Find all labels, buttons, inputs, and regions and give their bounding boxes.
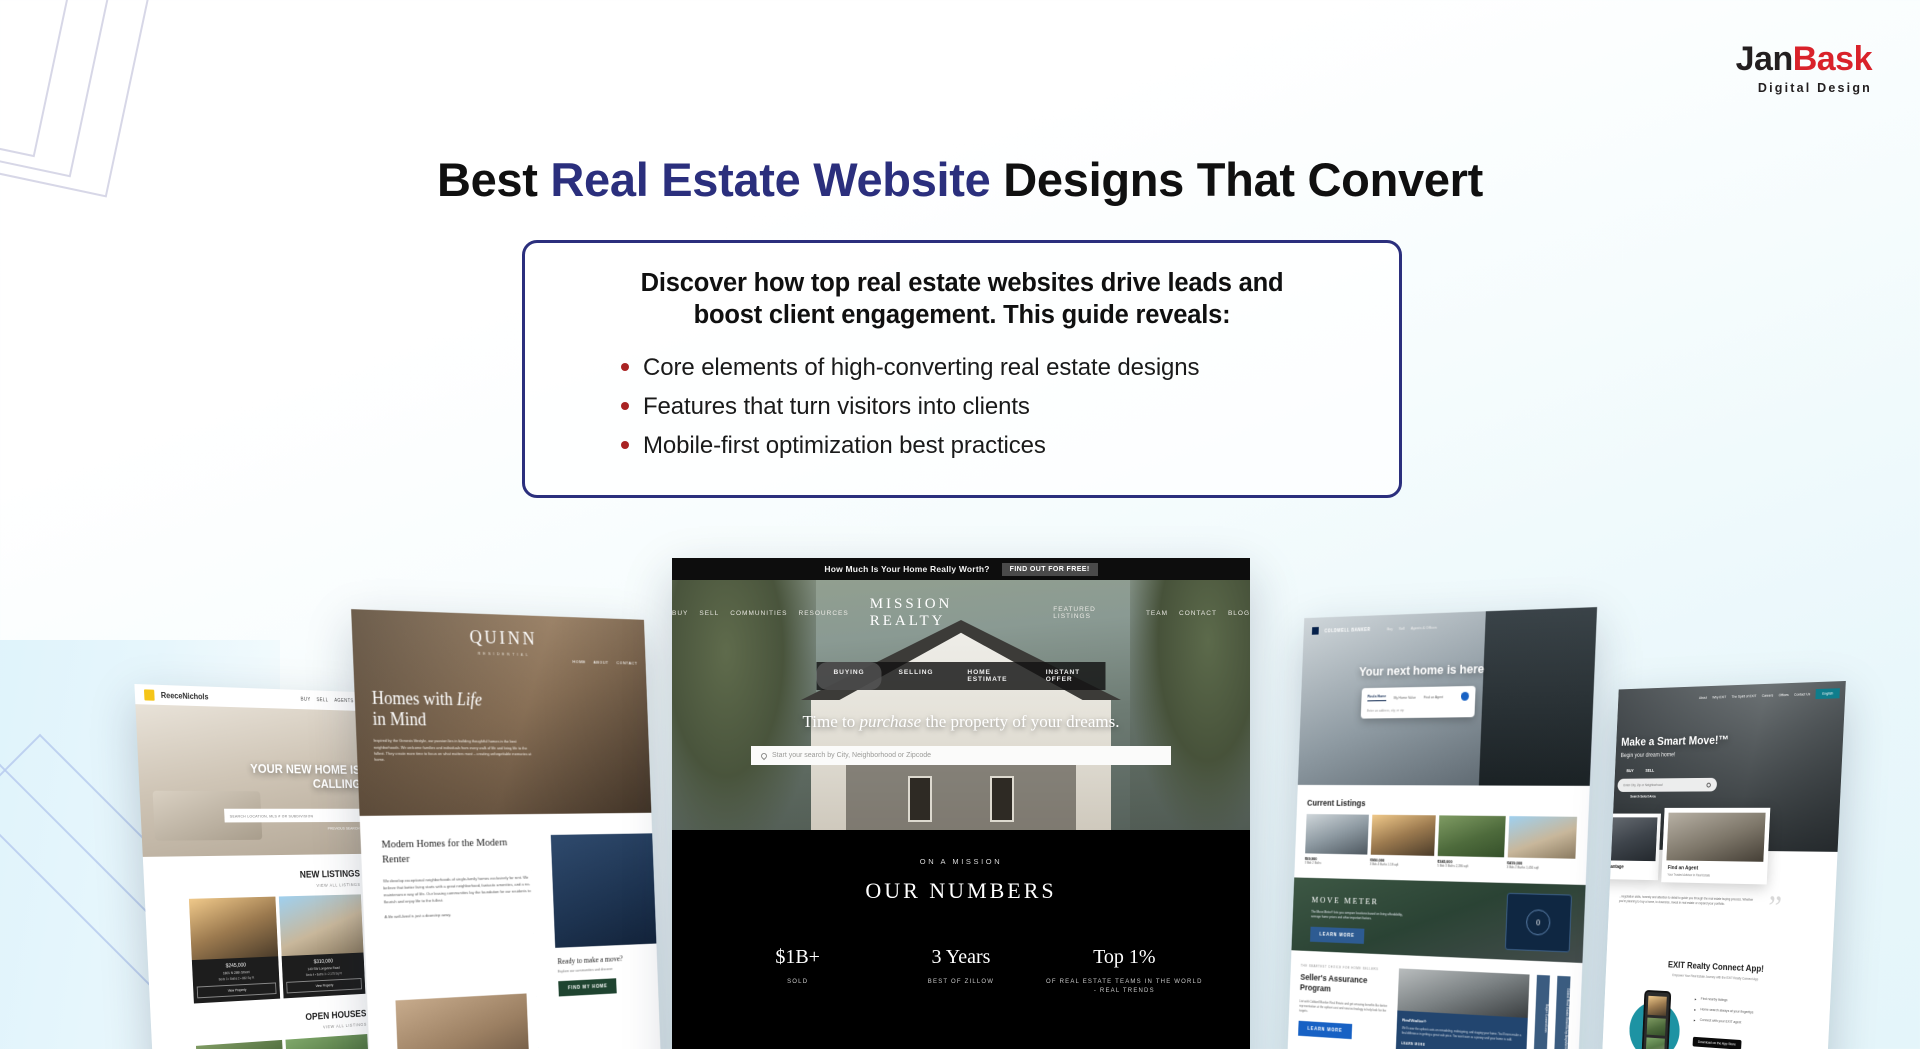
reece-brand: ReeceNichols — [161, 690, 209, 701]
list-item: Core elements of high-converting real es… — [621, 354, 1365, 382]
chat-icon: ▸ — [1694, 1018, 1696, 1023]
list-item[interactable]: $419,000 3 Bds 2 Baths 1,456 sqft — [1507, 816, 1577, 871]
quinn-nav-home[interactable]: HOME — [572, 659, 585, 664]
coldwell-side-tab-global-benefits[interactable]: Global Real Estate Benefits by Anywhere — [1554, 976, 1571, 1049]
mission-navbar: BUY SELL COMMUNITIES RESOURCES MISSION R… — [672, 596, 1250, 630]
exit-card2-sub: Your Trusted Advisor in Real Estate — [1661, 873, 1767, 879]
callout-box: Discover how top real estate websites dr… — [522, 240, 1402, 498]
list-item[interactable] — [286, 1034, 370, 1049]
reece-nav-buy[interactable]: BUY — [301, 697, 311, 703]
bullet-dot-icon — [621, 363, 629, 371]
quinn-hero-em: Life — [456, 689, 482, 709]
coldwell-listings-title: Current Listings — [1307, 798, 1578, 810]
coldwell-brand: COLDWELL BANKER — [1324, 627, 1370, 633]
exit-search-input[interactable]: Enter City, Zip or Neighborhood — [1617, 778, 1717, 792]
headline-accent: Real Estate Website — [550, 153, 990, 206]
coldwell-seller-kicker: THE SMARTEST CHOICE FOR HOME SELLERS — [1301, 964, 1392, 972]
exit-search-heading: Search Select Area — [1630, 795, 1656, 799]
reece-hero: YOUR NEW HOME IS CALLING SEARCH LOCATION… — [135, 704, 368, 857]
reece-nav-sell[interactable]: SELL — [316, 697, 328, 703]
mission-hero-post: the property of your dreams. — [921, 712, 1119, 731]
coldwell-logo-icon — [1312, 627, 1319, 635]
mockup-coldwell-banker[interactable]: COLDWELL BANKER Buy Sell Agents & Office… — [1278, 607, 1597, 1049]
coldwell-seller-learn-more-button[interactable]: LEARN MORE — [1298, 1021, 1352, 1039]
search-icon[interactable] — [1706, 782, 1711, 787]
quinn-cta-title: Ready to make a move? — [557, 953, 650, 966]
reece-hero-line-1: YOUR NEW HOME IS — [250, 761, 360, 777]
reece-listing-cta-1[interactable]: View Property — [197, 982, 277, 998]
exit-phone-mockup — [1641, 990, 1671, 1049]
coldwell-search-panel[interactable]: Find a Home My Home Value Find an Agent … — [1361, 686, 1476, 719]
reece-hero-line-2: CALLING — [313, 776, 362, 791]
mission-announcement-bar: How Much Is Your Home Really Worth? FIND… — [672, 558, 1250, 580]
reece-listing-cards: $245,000 1801 N 28th Street Beds 3 • Bat… — [145, 887, 376, 1006]
mission-search-input[interactable]: Start your search by City, Neighborhood … — [751, 746, 1171, 765]
list-item[interactable]: $950,000 3 Bds 4 Baths 1.18 sqft — [1370, 815, 1436, 868]
coldwell-nav-buy[interactable]: Buy — [1387, 626, 1393, 631]
quinn-section-title-1: Modern Homes for the Modern — [381, 837, 507, 851]
mockup-quinn[interactable]: QUINN RESIDENTIAL HOME ABOUT CONTACT Hom… — [351, 609, 670, 1049]
quinn-find-my-home-button[interactable]: FIND MY HOME — [558, 978, 617, 996]
bullet-text: Core elements of high-converting real es… — [643, 354, 1199, 382]
quinn-hero-text: Homes with Life in Mind Inspired by the … — [371, 688, 537, 763]
stat-item: Top 1% OF REAL ESTATE TEAMS IN THE WORLD… — [1046, 946, 1203, 996]
exit-tab-sell[interactable]: SELL — [1645, 768, 1654, 773]
coldwell-tab-find-an-agent[interactable]: Find an Agent — [1424, 695, 1444, 699]
coldwell-search-placeholder: Enter an address, city, or zip — [1367, 707, 1469, 712]
coldwell-realvitalize-card: RealVitalize® We'll cover the upfront co… — [1396, 1010, 1528, 1049]
reece-search-input[interactable]: SEARCH LOCATION, MLS # OR SUBDIVISION — [224, 809, 361, 823]
list-item: Features that turn visitors into clients — [621, 393, 1365, 421]
coldwell-side-tab-buyer-connections[interactable]: Buyer Connections — [1533, 975, 1549, 1049]
coldwell-realvitalize-body: We'll cover the upfront costs on remodel… — [1402, 1026, 1522, 1043]
app-store-badge[interactable]: Download on the App Store — [1693, 1037, 1742, 1049]
mission-hero-window-1 — [908, 776, 932, 822]
headline-part-1: Best — [437, 153, 550, 206]
coldwell-seller-title-2: Program — [1300, 983, 1331, 994]
exit-testimonial-block: ...negotiation skills, honesty and atten… — [1618, 894, 1782, 918]
quinn-brand: QUINN — [469, 627, 537, 650]
list-item[interactable]: $69,900 3 Bds 2 Baths — [1305, 814, 1369, 866]
mockup-reecenichols[interactable]: ReeceNichols BUY SELL AGENTS YOUR NEW HO… — [134, 684, 388, 1049]
mission-hero: BUY SELL COMMUNITIES RESOURCES MISSION R… — [672, 580, 1250, 830]
exit-card2-title: Find an Agent — [1662, 865, 1768, 873]
mockup-mission-realty[interactable]: How Much Is Your Home Really Worth? FIND… — [672, 558, 1250, 1049]
coldwell-realvitalize-image — [1397, 968, 1529, 1018]
mission-search-placeholder: Start your search by City, Neighborhood … — [772, 752, 931, 759]
mockup-exit-realty[interactable]: About Why EXIT The Spirit of EXIT Career… — [1591, 681, 1846, 1049]
coldwell-hero-title: Your next home is here — [1359, 662, 1485, 679]
coldwell-movemeter-body: The Move Meter® lets you compare locatio… — [1311, 910, 1414, 924]
reece-nav-agents[interactable]: AGENTS — [334, 698, 354, 704]
pin-icon: ▸ — [1695, 996, 1697, 1001]
coldwell-search-submit-icon[interactable] — [1461, 692, 1469, 701]
coldwell-movemeter-button[interactable]: LEARN MORE — [1310, 926, 1364, 943]
stat-item: 3 Years BEST OF ZILLOW — [883, 946, 1040, 996]
reece-new-listings-section: NEW LISTINGS VIEW ALL LISTINGS — [143, 854, 370, 892]
exit-hero-subheading: Begin your dream home! — [1620, 752, 1675, 759]
decorative-rectangle-3 — [0, 0, 101, 157]
mission-nav-featured-listings[interactable]: FEATURED LISTINGS — [1053, 606, 1135, 620]
exit-feature-1: Find nearby listings — [1701, 997, 1728, 1002]
bullet-dot-icon — [621, 441, 629, 449]
stat-item: $1B+ SOLD — [719, 946, 876, 996]
reece-prev-search-link[interactable]: PREVIOUS SEARCH — [328, 826, 360, 831]
list-item[interactable] — [196, 1040, 285, 1049]
exit-app-feature-list: ▸ Find nearby listings ▸ Home search alw… — [1692, 996, 1787, 1049]
exit-testimonial-text: ...negotiation skills, honesty and atten… — [1618, 894, 1761, 918]
exit-search-placeholder: Enter City, Zip or Neighborhood — [1623, 783, 1662, 787]
reece-listing-cta-2[interactable]: View Property — [286, 978, 362, 993]
mission-nav-blog[interactable]: BLOG — [1228, 610, 1250, 617]
mission-nav-contact[interactable]: CONTACT — [1179, 610, 1217, 617]
list-item: ▸ Home search always at your fingertips — [1694, 1007, 1786, 1018]
mission-nav-team[interactable]: TEAM — [1146, 610, 1168, 617]
mission-nav-communities[interactable]: COMMUNITIES — [730, 610, 787, 617]
coldwell-listing-cards: $69,900 3 Bds 2 Baths $950,000 3 Bds 4 B… — [1305, 814, 1577, 871]
coldwell-listings-section: Current Listings $69,900 3 Bds 2 Baths $… — [1295, 785, 1590, 871]
quinn-hero: QUINN RESIDENTIAL HOME ABOUT CONTACT Hom… — [351, 609, 651, 816]
logo-tagline: Digital Design — [1736, 81, 1872, 95]
tab-buying[interactable]: BUYING — [817, 662, 882, 690]
mission-search-tabs: BUYING SELLING HOME ESTIMATE INSTANT OFF… — [817, 662, 1106, 690]
coldwell-listing-meta-2: 3 Bds 4 Baths 1.18 sqft — [1370, 862, 1434, 867]
mission-numbers-section: ON A MISSION OUR NUMBERS $1B+ SOLD 3 Yea… — [672, 830, 1250, 1049]
finger-icon: ▸ — [1694, 1007, 1696, 1012]
list-item[interactable]: $345,000 5 Bds 3 Baths 2,286 sqft — [1437, 815, 1505, 869]
bullet-dot-icon — [621, 402, 629, 410]
mission-hero-porch — [846, 756, 1076, 830]
coldwell-seller-section: THE SMARTEST CHOICE FOR HOME SELLERS Sel… — [1288, 950, 1583, 1049]
mission-hero-heading: Time to purchase the property of your dr… — [672, 712, 1250, 732]
list-item: ▸ Find nearby listings — [1695, 996, 1787, 1006]
reece-section-title-1: NEW LISTINGS — [155, 869, 360, 884]
exit-nav-spirit[interactable]: The Spirit of EXIT — [1731, 694, 1756, 699]
mission-stat-value-2: 3 Years — [883, 946, 1040, 969]
quinn-cta-sub: Explore our communities and discover — [558, 965, 651, 973]
reece-hero-heading: YOUR NEW HOME IS CALLING — [250, 762, 361, 791]
website-mockup-gallery: ReeceNichols BUY SELL AGENTS YOUR NEW HO… — [0, 440, 1920, 1049]
exit-hero-heading: Make a Smart Move!™ — [1621, 734, 1729, 749]
quinn-side-image — [551, 833, 657, 948]
coldwell-movemeter-dial: 0 — [1505, 893, 1572, 953]
exit-nav-about[interactable]: About — [1699, 696, 1707, 700]
mission-stat-label-3: OF REAL ESTATE TEAMS IN THE WORLD - REAL… — [1046, 978, 1203, 996]
list-item[interactable]: $310,000 140 SW Longview Road Beds 4 • B… — [279, 894, 366, 998]
mission-nav-sell[interactable]: SELL — [699, 610, 719, 617]
callout-lead: Discover how top real estate websites dr… — [559, 267, 1365, 332]
coldwell-seller-title: Seller's Assurance Program — [1300, 972, 1392, 998]
mission-stat-value-3: Top 1% — [1046, 946, 1203, 969]
coldwell-listing-meta-4: 3 Bds 2 Baths 1,456 sqft — [1507, 865, 1575, 870]
mission-numbers-kicker: ON A MISSION — [672, 830, 1250, 866]
coldwell-nav-sell[interactable]: Sell — [1399, 625, 1405, 630]
coldwell-listing-meta-3: 5 Bds 3 Baths 2,286 sqft — [1437, 864, 1503, 869]
coldwell-movemeter-section: MOVE METER The Move Meter® lets you comp… — [1291, 877, 1585, 963]
tab-instant-offer[interactable]: INSTANT OFFER — [1029, 662, 1106, 690]
logo-bask-text: Bask — [1793, 40, 1872, 78]
mission-stat-label-1: SOLD — [719, 978, 876, 987]
exit-tab-buy[interactable]: BUY — [1626, 768, 1633, 773]
location-pin-icon — [760, 751, 768, 759]
reece-search-placeholder: SEARCH LOCATION, MLS # OR SUBDIVISION — [230, 813, 314, 818]
bullet-text: Mobile-first optimization best practices — [643, 432, 1046, 460]
mission-hero-window-2 — [990, 776, 1014, 822]
callout-lead-line-2: boost client engagement. This guide reve… — [559, 299, 1365, 331]
coldwell-hero-windows — [1479, 607, 1597, 786]
quinn-section-body: We develop exceptional neighborhoods of … — [383, 873, 533, 905]
mission-announcement-text: How Much Is Your Home Really Worth? — [824, 564, 989, 574]
quote-icon: ” — [1768, 898, 1782, 918]
mission-hero-em: purchase — [860, 712, 922, 731]
coldwell-movemeter-title: MOVE METER — [1311, 895, 1414, 908]
list-item: ▸ Connect with your EXIT agent — [1694, 1018, 1786, 1029]
mission-nav-resources[interactable]: RESOURCES — [799, 610, 849, 617]
quinn-nav-contact[interactable]: CONTACT — [616, 660, 637, 665]
coldwell-tab-find-a-home[interactable]: Find a Home — [1367, 694, 1386, 701]
exit-feature-2: Home search always at your fingertips — [1700, 1007, 1753, 1015]
mission-stats-row: $1B+ SOLD 3 Years BEST OF ZILLOW Top 1% … — [672, 946, 1250, 996]
decorative-rectangle-2 — [0, 0, 135, 177]
tab-selling[interactable]: SELLING — [882, 662, 951, 690]
exit-search-tabs: BUY SELL — [1626, 768, 1654, 773]
exit-nav-offices[interactable]: Offices — [1779, 693, 1789, 697]
exit-app-section: EXIT Realty Connect App! Empower Your Re… — [1606, 957, 1832, 985]
exit-hero-line-1: Make a Smart Move!™ — [1621, 733, 1729, 749]
logo-jan-text: Jan — [1736, 40, 1793, 78]
quinn-hero-heading: Homes with Life in Mind — [371, 688, 536, 731]
exit-feature-3: Connect with your EXIT agent — [1700, 1018, 1742, 1024]
exit-nav-careers[interactable]: Careers — [1762, 694, 1774, 698]
exit-nav-contact-us[interactable]: Contact Us — [1794, 692, 1810, 697]
exit-card-find-agent[interactable]: Find an Agent Your Trusted Advisor in Re… — [1661, 808, 1770, 885]
quinn-cta-block: Ready to make a move? Explore our commun… — [557, 953, 651, 996]
quinn-hero-body: Inspired by the Genesis lifestyle, our p… — [373, 738, 537, 763]
coldwell-seller-body: List with Coldwell Banker Real Estate an… — [1299, 999, 1391, 1019]
quinn-nav-about[interactable]: ABOUT — [593, 660, 609, 665]
janbask-logo: JanBask Digital Design — [1736, 42, 1872, 95]
exit-language-button[interactable]: English — [1816, 688, 1840, 699]
mission-find-out-free-button[interactable]: FIND OUT FOR FREE! — [1002, 563, 1098, 576]
coldwell-listing-meta-1: 3 Bds 2 Baths — [1305, 861, 1367, 866]
exit-nav-why-exit[interactable]: Why EXIT — [1712, 695, 1726, 699]
mission-brand: MISSION REALTY — [870, 596, 1033, 630]
coldwell-dial-value: 0 — [1526, 909, 1551, 936]
coldwell-realvitalize-link[interactable]: LEARN MORE — [1401, 1041, 1521, 1049]
coldwell-hero: COLDWELL BANKER Buy Sell Agents & Office… — [1298, 607, 1597, 786]
mission-numbers-title: OUR NUMBERS — [672, 878, 1250, 904]
quinn-family-photo — [395, 993, 529, 1049]
reece-logo-icon — [144, 689, 155, 700]
quinn-section-title-2: Renter — [382, 853, 410, 865]
mission-stat-label-2: BEST OF ZILLOW — [883, 978, 1040, 987]
mission-hero-pre: Time to — [803, 712, 860, 731]
headline-part-2: Designs That Convert — [991, 153, 1484, 206]
list-item[interactable]: $245,000 1801 N 28th Street Beds 3 • Bat… — [189, 897, 280, 1004]
list-item: Mobile-first optimization best practices — [621, 432, 1365, 460]
mission-stat-value-1: $1B+ — [719, 946, 876, 969]
exit-card-advantage[interactable]: EXIT Advantage — [1591, 814, 1661, 881]
coldwell-tab-my-home-value[interactable]: My Home Value — [1394, 695, 1416, 699]
page-title: Best Real Estate Website Designs That Co… — [0, 152, 1920, 207]
logo-wordmark: JanBask — [1736, 42, 1872, 76]
coldwell-nav-agents[interactable]: Agents & Offices — [1411, 624, 1437, 630]
coldwell-header: COLDWELL BANKER Buy Sell Agents & Office… — [1312, 623, 1437, 635]
mission-nav-buy[interactable]: BUY — [672, 610, 688, 617]
quinn-brand-block: QUINN RESIDENTIAL — [469, 627, 538, 657]
callout-bullet-list: Core elements of high-converting real es… — [559, 354, 1365, 460]
bullet-text: Features that turn visitors into clients — [643, 393, 1030, 421]
callout-lead-line-1: Discover how top real estate websites dr… — [559, 267, 1365, 299]
tab-home-estimate[interactable]: HOME ESTIMATE — [950, 662, 1028, 690]
exit-store-badges: Download on the App Store GET IT ON Goog… — [1692, 1030, 1785, 1049]
exit-card1-title: EXIT Advantage — [1591, 864, 1658, 871]
quinn-hero-line-2: in Mind — [372, 709, 426, 729]
